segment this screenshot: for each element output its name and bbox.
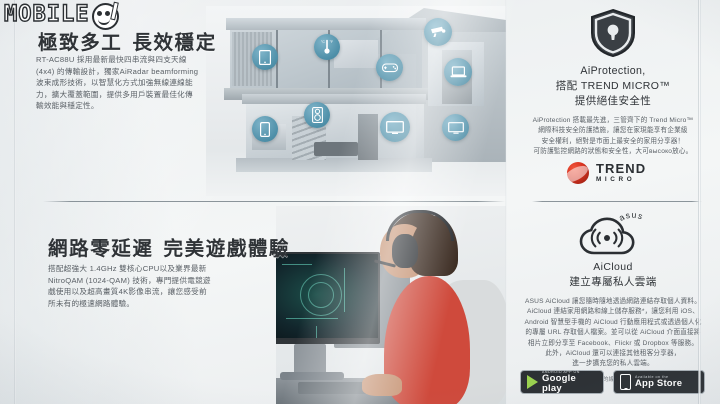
- gamer-photo: [276, 206, 506, 404]
- house-upper-slab-top: [226, 18, 426, 30]
- aiprotection-body-line: 網際科技安全防護措施，讓您在家現能享有企業級: [518, 126, 708, 136]
- top-headline: 極致多工長效穩定: [38, 26, 217, 55]
- bottom-body-line: 所未有的極速網路體驗。: [48, 298, 224, 310]
- google-play-icon: [527, 375, 538, 389]
- smart-home-illustration: °C°F: [206, 6, 506, 196]
- game-controller-icon: [382, 62, 398, 73]
- lower-sofa: [314, 142, 358, 156]
- bubble-television: [380, 112, 410, 142]
- monitor-stand: [294, 344, 326, 374]
- left-column: °C°F 極致多工長: [0, 0, 506, 404]
- trend-micro-sub: MICRO: [596, 177, 646, 183]
- top-body-line: RT-AC88U 採用最新最快四串流與四支天線: [36, 54, 212, 66]
- aiprotection-body-line: AiProtection 搭載最先進，三管齊下的 Trend Micro™: [518, 116, 708, 126]
- keyboard: [298, 382, 370, 394]
- screen-hud-arc-2: [308, 282, 334, 308]
- bottom-body-line: NitroQAM (1024-QAM) 技術，專門提供電競遊: [48, 275, 224, 287]
- speaker-icon: [312, 107, 323, 123]
- mobile01-watermark: MOBILE: [4, 2, 132, 28]
- trend-micro-sphere-icon: [567, 162, 589, 184]
- trend-micro-logo: TREND MICRO: [567, 158, 663, 188]
- apple-device-icon: [620, 374, 631, 390]
- bubble-smartphone: [252, 116, 278, 142]
- aicloud-body-line: 進一步擴充您的私人雲端。: [513, 359, 713, 369]
- tablet-icon: [259, 50, 271, 65]
- column-seam: [505, 0, 507, 404]
- top-body-line: (4x4) 的傳輸設計，獨家AiRadar beamforming: [36, 66, 212, 78]
- top-headline-part1: 極致多工: [38, 32, 122, 54]
- google-play-badge[interactable]: ANDROID APP ON Google play: [520, 370, 604, 394]
- bottom-body-text: 搭配超強大 1.4GHz 雙核心CPU以及業界最新 NitroQAM (1024…: [48, 263, 224, 309]
- right-column: AiProtection, 搭配 TREND MICRO™ 提供絕佳安全性 Ai…: [506, 0, 720, 404]
- aicloud-title-line1: AiCloud: [506, 260, 720, 275]
- thermometer-icon: °C°F: [320, 39, 334, 55]
- bottom-headline-part2: 完美遊戲體驗: [164, 238, 291, 260]
- screen-hud-line-1: [282, 264, 312, 265]
- top-body-text: RT-AC88U 採用最新最快四串流與四支天線 (4x4) 的傳輸設計，獨家Ai…: [36, 54, 212, 112]
- asus-cloud-wifi-icon: asus: [570, 212, 656, 258]
- bubble-tablet: [252, 44, 278, 70]
- aicloud-body-line: 相片立即分享至 Facebook、Flickr 或 Dropbox 等服務。: [513, 339, 713, 349]
- person-hand: [362, 374, 402, 396]
- bubble-thermometer: °C°F: [314, 34, 340, 60]
- television-icon: [386, 121, 404, 134]
- bubble-laptop: [444, 58, 472, 86]
- aiprotection-card: AiProtection, 搭配 TREND MICRO™ 提供絕佳安全性 Ai…: [506, 8, 720, 158]
- left-section-divider: [43, 201, 505, 202]
- aicloud-body-line: ASUS AiCloud 讓您隨時隨地透過網路連結存取個人資料。: [513, 297, 713, 307]
- bottom-body-line: 戲使用以及超高畫質4K影像串流，讓您感受前: [48, 286, 224, 298]
- top-body-line: 輸效能與穩定性。: [36, 100, 212, 112]
- aiprotection-body-line: 可防護監控網路的狀態和安全性，大可высоко放心。: [518, 147, 708, 157]
- aiprotection-title: AiProtection, 搭配 TREND MICRO™ 提供絕佳安全性: [506, 64, 720, 109]
- app-store-badges: ANDROID APP ON Google play Available on …: [520, 370, 706, 394]
- bubble-monitor: [442, 114, 469, 141]
- aicloud-title: AiCloud 建立專屬私人雲端: [506, 260, 720, 290]
- bubble-security-camera: [424, 18, 452, 46]
- watermark-smile: [98, 17, 110, 25]
- aiprotection-title-line2: 搭配 TREND MICRO™: [506, 79, 720, 94]
- top-headline-part2: 長效穩定: [132, 32, 216, 54]
- bubble-speaker: [304, 102, 330, 128]
- security-camera-icon: [430, 26, 446, 38]
- bottom-body-line: 搭配超強大 1.4GHz 雙核心CPU以及業界最新: [48, 263, 224, 275]
- aicloud-body-line: 的專屬 URL 存取個人檔案。並可以從 AiCloud 介面直接將: [513, 328, 713, 338]
- aicloud-body-line: 此外，AiCloud 還可以連接其他租客分享器，: [513, 349, 713, 359]
- bottom-headline: 網路零延遲完美遊戲體驗: [48, 232, 290, 261]
- laptop-icon: [450, 66, 467, 78]
- shield-lock-icon: [590, 8, 636, 58]
- house-lower-slab-top: [242, 94, 426, 104]
- aicloud-title-line2: 建立專屬私人雲端: [506, 275, 720, 290]
- aiprotection-title-line1: AiProtection,: [506, 64, 720, 79]
- screen-hud-line-3: [344, 268, 345, 312]
- smartphone-icon: [260, 122, 270, 137]
- house-lower-floor: [236, 158, 432, 172]
- top-body-line: 力，擴大覆蓋範圍，提供多用戶裝置最佳化傳: [36, 89, 212, 101]
- aicloud-body-line: AiCloud 連結家用網路和線上儲存服務*，讓您利用 iOS、: [513, 307, 713, 317]
- svg-text:°F: °F: [330, 40, 333, 44]
- aiprotection-title-line3: 提供絕佳安全性: [506, 94, 720, 109]
- bottom-headline-part1: 網路零延遲: [48, 238, 154, 260]
- board-left-edge: [14, 0, 16, 404]
- top-body-line: 波束成形技術，以智慧化方式加強無線連線能: [36, 77, 212, 89]
- product-poster-board: °C°F 極致多工長: [0, 0, 720, 404]
- right-section-divider: [532, 201, 702, 202]
- trend-micro-wordmark: TREND MICRO: [596, 162, 646, 183]
- board-right-edge: [698, 0, 701, 404]
- monitor-base: [280, 372, 344, 380]
- app-store-main: App Store: [635, 379, 682, 389]
- monitor-icon: [448, 122, 464, 134]
- lower-shelf-unit: [358, 114, 378, 160]
- aiprotection-body-line: 安全權利，絕對是市面上最安全的家用分享器！: [518, 137, 708, 147]
- svg-text:asus: asus: [617, 212, 645, 223]
- bubble-game-controller: [376, 54, 403, 81]
- app-store-badge[interactable]: Available on the App Store: [613, 370, 705, 394]
- aiprotection-body: AiProtection 搭載最先進，三管齊下的 Trend Micro™ 網際…: [506, 116, 720, 158]
- screen-hud-line-4: [316, 326, 317, 338]
- trend-micro-name: TREND: [596, 162, 646, 175]
- google-play-main: Google play: [542, 374, 597, 394]
- screen-hud-line-2: [286, 318, 338, 319]
- headset-earcup: [392, 234, 418, 268]
- aicloud-card: asus AiCloud 建立專屬私人雲端 ASUS AiCloud 讓您隨時隨…: [506, 212, 720, 385]
- upper-tv-panel: [334, 40, 378, 68]
- aicloud-body-line: Android 智慧型手機的 AiCloud 行動應用程式或透過個人化: [513, 318, 713, 328]
- svg-text:°C: °C: [321, 40, 325, 44]
